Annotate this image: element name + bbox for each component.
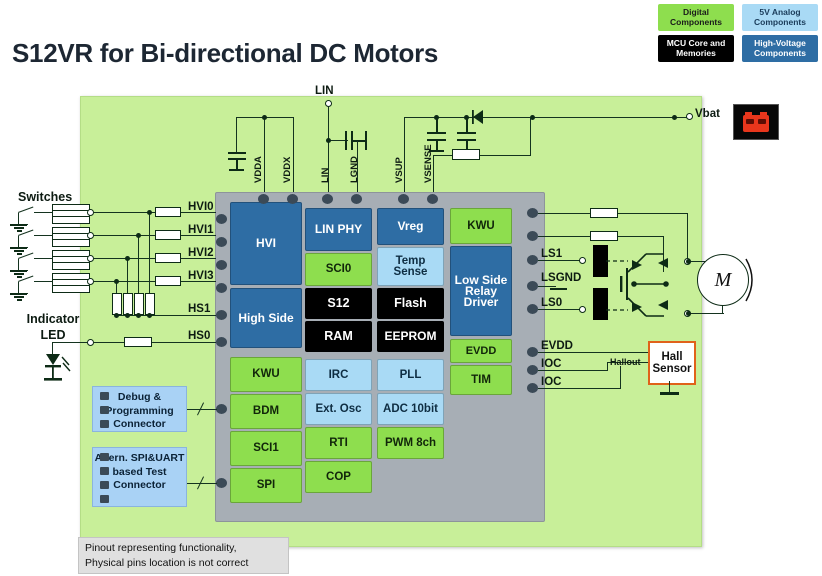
pin-label-ioc-2: IOC	[541, 376, 561, 388]
pin-vsup[interactable]	[398, 194, 409, 204]
pin-label-evdd-right: EVDD	[541, 340, 573, 352]
pin-label-ls0: LS0	[541, 297, 562, 309]
pin-evdd[interactable]	[527, 347, 538, 357]
pin-label-vdda: VDDA	[253, 156, 264, 183]
block-sci1[interactable]: SCI1	[230, 431, 302, 466]
led-icon	[42, 352, 72, 386]
pin-right-kwu-1[interactable]	[527, 208, 538, 218]
wire-vddx-pin	[293, 117, 294, 199]
block-pll[interactable]: PLL	[377, 359, 444, 391]
pin-label-ioc-1: IOC	[541, 358, 561, 370]
pin-ioc-1[interactable]	[527, 365, 538, 375]
pin-ioc-2[interactable]	[527, 383, 538, 393]
block-evdd[interactable]: EVDD	[450, 339, 512, 363]
pin-vdda[interactable]	[258, 194, 269, 204]
connector-pin	[100, 495, 109, 503]
connector-pin	[100, 453, 109, 461]
lin-terminal	[325, 100, 332, 107]
pin-hs1[interactable]	[216, 310, 227, 320]
terminal-hvi2	[87, 255, 94, 262]
legend-item-mcu: MCU Core and Memories	[658, 35, 734, 62]
block-eeprom[interactable]: EEPROM	[377, 321, 444, 352]
pin-lin[interactable]	[322, 194, 333, 204]
block-sci0[interactable]: SCI0	[305, 253, 372, 286]
block-irc[interactable]: IRC	[305, 359, 372, 391]
resistor-pd-3	[134, 293, 144, 315]
pin-label-hvi1: HVI1	[188, 224, 214, 236]
pin-lsgnd[interactable]	[527, 281, 538, 291]
pin-label-lgnd: LGND	[349, 156, 360, 183]
h-bridge	[606, 240, 698, 332]
pin-label-hvi0: HVI0	[188, 201, 214, 213]
node-hs1-4	[147, 313, 152, 318]
legend-item-high-voltage: High-Voltage Components	[742, 35, 818, 62]
connector-pin	[100, 467, 109, 475]
connector-pin	[100, 481, 109, 489]
connector-pin	[100, 406, 109, 414]
block-low-side-relay-driver[interactable]: Low Side Relay Driver	[450, 246, 512, 336]
terminal-hvi0	[87, 209, 94, 216]
resistor-pd-4	[145, 293, 155, 315]
filter-hvi3	[52, 273, 90, 293]
wire-motor-bottom	[691, 313, 724, 314]
footnote: Pinout representing functionality, Physi…	[78, 537, 289, 574]
wire-led-top	[52, 342, 88, 343]
wire-sw4	[34, 281, 53, 282]
page-title: S12VR for Bi-directional DC Motors	[12, 38, 438, 69]
node-vdd	[262, 115, 267, 120]
wire-test-bus	[187, 483, 217, 484]
pin-hs0[interactable]	[216, 337, 227, 347]
wire-sw1	[34, 212, 53, 213]
wire-vdda-down	[236, 117, 237, 153]
block-spi[interactable]: SPI	[230, 468, 302, 503]
wire-hs0	[94, 342, 216, 343]
connector-pin	[100, 420, 109, 428]
wire-sw3	[34, 258, 53, 259]
footnote-line-2: Physical pins location is not correct	[85, 556, 288, 571]
pin-lgnd[interactable]	[351, 194, 362, 204]
switches-header: Switches	[18, 190, 72, 204]
pin-ls0[interactable]	[527, 304, 538, 314]
wire-ioc-2	[538, 388, 621, 389]
wire-vsense-res	[433, 155, 531, 156]
block-kwu-left[interactable]: KWU	[230, 357, 302, 392]
node-pd-4	[147, 210, 152, 215]
filter-hvi1	[52, 227, 90, 247]
resistor-hs0	[124, 337, 152, 347]
pin-label-vsense: VSENSE	[423, 144, 434, 183]
wire-hs1	[116, 315, 216, 316]
resistor-hs-1	[590, 208, 618, 218]
wire-vbat-rail	[404, 117, 689, 118]
pin-vsense[interactable]	[427, 194, 438, 204]
wire-sw2	[34, 235, 53, 236]
pin-label-vsup: VSUP	[394, 157, 405, 183]
wire-ls1	[538, 260, 580, 261]
pin-label-lin: LIN	[320, 168, 331, 183]
hallout-label: Hallout	[610, 357, 641, 367]
wire-debug-bus	[187, 409, 217, 410]
resistor-hvi1	[155, 230, 181, 240]
wire-ioc-2-up	[620, 366, 621, 389]
resistor-pd-2	[123, 293, 133, 315]
terminal-ls0	[579, 306, 586, 313]
test-connector[interactable]: Altern. SPI&UART based Test Connector	[92, 447, 187, 507]
debug-connector-label: Debug & Programming Connector	[105, 391, 173, 430]
footnote-line-1: Pinout representing functionality,	[85, 541, 288, 556]
block-temp-sense[interactable]: Temp Sense	[377, 247, 444, 286]
block-ram[interactable]: RAM	[305, 321, 372, 352]
pin-label-lsgnd: LSGND	[541, 272, 581, 284]
pin-label-hs1: HS1	[188, 303, 210, 315]
debug-programming-connector[interactable]: Debug & Programming Connector	[92, 386, 187, 432]
node-pd-1	[114, 279, 119, 284]
wire-lin	[328, 107, 329, 199]
block-cop[interactable]: COP	[305, 461, 372, 493]
wire-ioc-1	[538, 370, 608, 371]
filter-hvi0	[52, 204, 90, 224]
legend: Digital Components 5V Analog Components …	[658, 4, 818, 66]
block-flash[interactable]: Flash	[377, 288, 444, 319]
node-hs1-3	[136, 313, 141, 318]
node-pd-3	[136, 233, 141, 238]
pin-label-vddx: VDDX	[282, 157, 293, 183]
resistor-pd-1	[112, 293, 122, 315]
indicator-led-label: Indicator LED	[18, 311, 88, 343]
block-hvi[interactable]: HVI	[230, 202, 302, 285]
block-ext-osc[interactable]: Ext. Osc	[305, 393, 372, 425]
wire-vdda-pin	[264, 117, 265, 199]
pin-hvi1[interactable]	[216, 237, 227, 247]
block-s12[interactable]: S12	[305, 288, 372, 319]
pin-debug-connector[interactable]	[216, 404, 227, 414]
terminal-ls1	[579, 257, 586, 264]
vbat-label: Vbat	[695, 108, 720, 120]
pin-hvi3[interactable]	[216, 283, 227, 293]
pin-label-hvi2: HVI2	[188, 247, 214, 259]
filter-hvi2	[52, 250, 90, 270]
node-hs1-2	[125, 313, 130, 318]
legend-item-digital: Digital Components	[658, 4, 734, 31]
pin-ls1[interactable]	[527, 255, 538, 265]
block-lin-phy[interactable]: LIN PHY	[305, 208, 372, 251]
block-vreg[interactable]: Vreg	[377, 208, 444, 245]
resistor-vsense	[452, 149, 480, 160]
pin-right-kwu-2[interactable]	[527, 231, 538, 241]
pin-label-hvi3: HVI3	[188, 270, 214, 282]
wire-ls0	[538, 309, 580, 310]
terminal-hvi1	[87, 232, 94, 239]
node-lin	[326, 138, 331, 143]
block-rti[interactable]: RTI	[305, 427, 372, 459]
legend-item-analog5v: 5V Analog Components	[742, 4, 818, 31]
pin-label-hs0: HS0	[188, 330, 210, 342]
motor-rotation-arrow	[742, 255, 764, 305]
node-vbat	[672, 115, 677, 120]
diode-reverse-polarity	[471, 108, 493, 126]
block-bdm[interactable]: BDM	[230, 394, 302, 429]
block-pwm[interactable]: PWM 8ch	[377, 427, 444, 459]
block-kwu-right[interactable]: KWU	[450, 208, 512, 244]
terminal-hvi3	[87, 278, 94, 285]
battery-icon	[733, 104, 779, 140]
pin-hvi2[interactable]	[216, 260, 227, 270]
hall-sensor[interactable]: Hall Sensor	[648, 341, 696, 385]
wire-vsense-tap-down	[530, 117, 531, 156]
terminal-led	[87, 339, 94, 346]
node-hs1-1	[114, 313, 119, 318]
resistor-hvi3	[155, 276, 181, 286]
resistor-hvi2	[155, 253, 181, 263]
wire-evdd-hall	[538, 352, 650, 353]
pin-test-connector[interactable]	[216, 478, 227, 488]
node-pd-2	[125, 256, 130, 261]
vbat-terminal	[686, 113, 693, 120]
pin-hvi0[interactable]	[216, 214, 227, 224]
block-adc[interactable]: ADC 10bit	[377, 393, 444, 425]
resistor-hvi0	[155, 207, 181, 217]
pin-label-ls1: LS1	[541, 248, 562, 260]
block-high-side[interactable]: High Side	[230, 288, 302, 348]
lin-label: LIN	[315, 85, 334, 97]
pin-vddx[interactable]	[287, 194, 298, 204]
connector-pin	[100, 392, 109, 400]
block-tim[interactable]: TIM	[450, 365, 512, 395]
